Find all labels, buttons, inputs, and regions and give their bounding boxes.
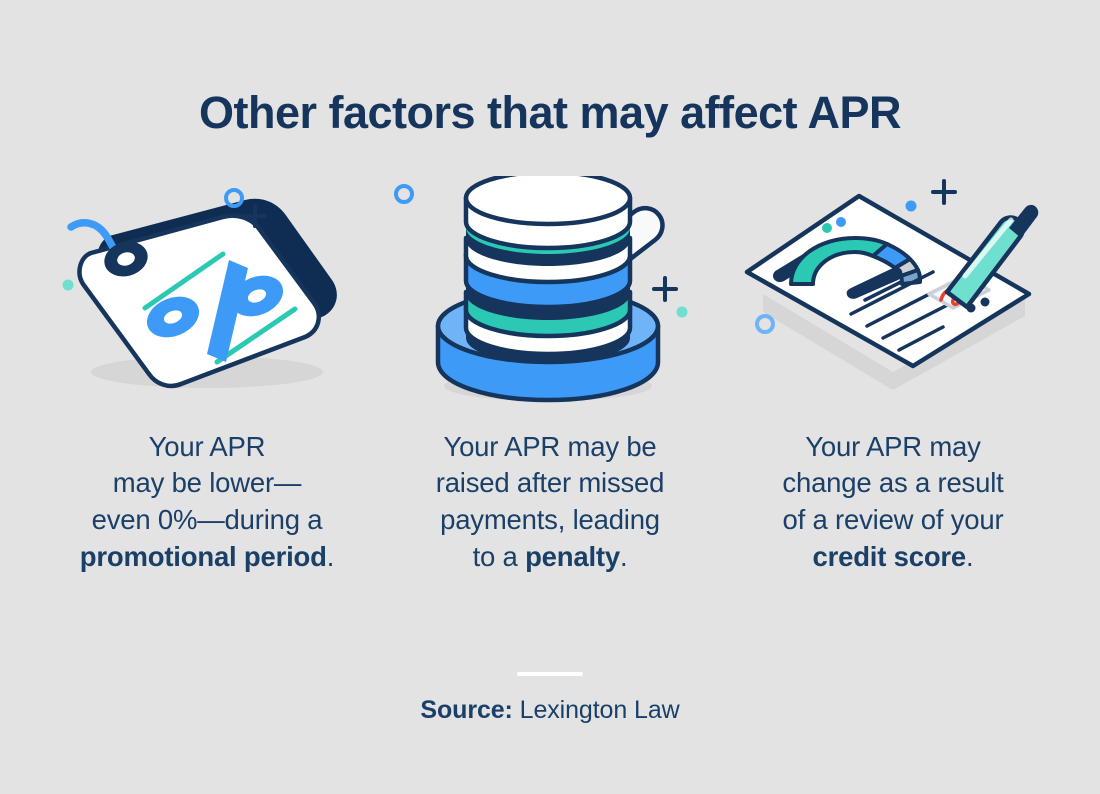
source-footer: Source: Lexington Law bbox=[0, 672, 1100, 725]
caption-line: even 0%—during a bbox=[92, 504, 323, 535]
credit-report-gauge-pen-illustration bbox=[733, 176, 1053, 411]
caption-emphasis: credit score bbox=[813, 541, 967, 572]
page-title: Other factors that may affect APR bbox=[199, 88, 901, 138]
factor-caption-promotional-period: Your APR may be lower— even 0%—during a … bbox=[80, 429, 334, 576]
caption-tail: . bbox=[620, 541, 627, 572]
gavel-illustration bbox=[390, 176, 710, 411]
source-value: Lexington Law bbox=[513, 696, 680, 724]
caption-line: may be lower— bbox=[113, 467, 301, 498]
caption-line: Your APR may be bbox=[443, 431, 656, 462]
caption-tail: . bbox=[966, 541, 973, 572]
caption-emphasis: promotional period bbox=[80, 541, 327, 572]
caption-emphasis: penalty bbox=[525, 541, 620, 572]
infographic-root: Other factors that may affect APR bbox=[0, 0, 1100, 794]
caption-line: of a review of your bbox=[783, 504, 1004, 535]
caption-line: change as a result bbox=[782, 467, 1003, 498]
factor-column-credit-score: Your APR may change as a result of a rev… bbox=[726, 176, 1060, 576]
caption-tail: . bbox=[327, 541, 334, 572]
price-tag-percent-illustration bbox=[47, 176, 367, 411]
factor-column-promotional-period: Your APR may be lower— even 0%—during a … bbox=[40, 176, 374, 576]
source-label: Source: bbox=[420, 696, 512, 724]
footer-divider bbox=[517, 672, 583, 676]
caption-line: Your APR bbox=[149, 431, 266, 462]
factor-columns: Your APR may be lower— even 0%—during a … bbox=[40, 176, 1060, 576]
factor-column-penalty: Your APR may be raised after missed paym… bbox=[383, 176, 717, 576]
factor-caption-penalty: Your APR may be raised after missed paym… bbox=[436, 429, 665, 576]
caption-line: Your APR may bbox=[805, 431, 980, 462]
source-attribution: Source: Lexington Law bbox=[420, 696, 679, 725]
caption-line: raised after missed bbox=[436, 467, 665, 498]
caption-lead: to a bbox=[473, 541, 526, 572]
factor-caption-credit-score: Your APR may change as a result of a rev… bbox=[782, 429, 1003, 576]
caption-line: payments, leading bbox=[440, 504, 660, 535]
